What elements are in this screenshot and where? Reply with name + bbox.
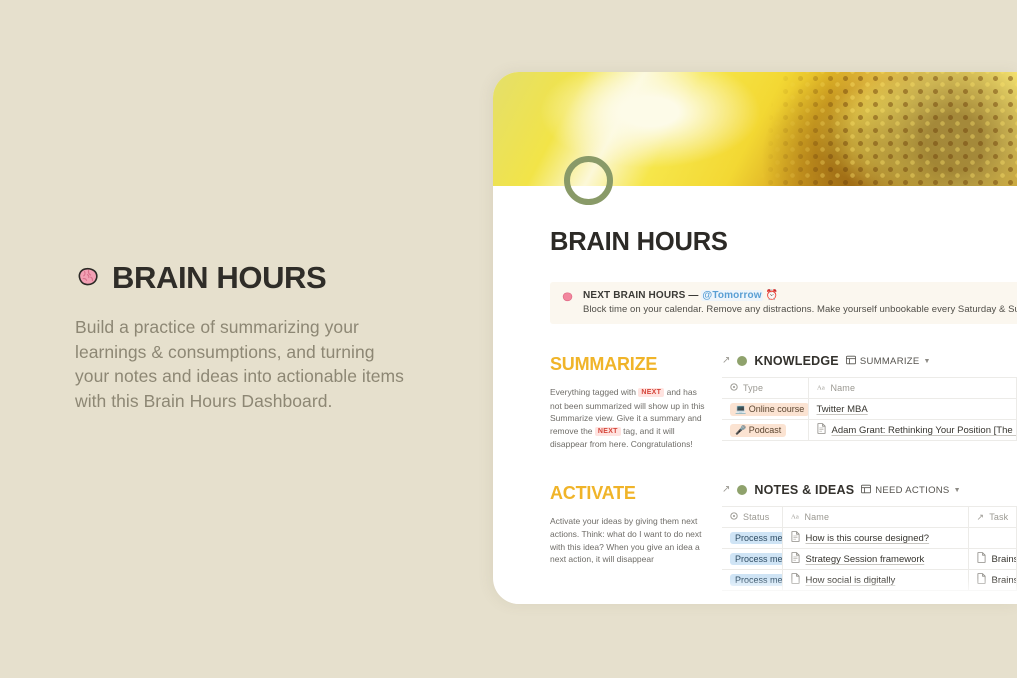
table-row[interactable]: Process me! — [722, 528, 1017, 549]
microphone-icon: 🎤 — [735, 425, 746, 435]
row-title[interactable]: Strategy Session framework — [806, 554, 925, 565]
inline-tag-next: NEXT — [638, 388, 664, 397]
text-icon: Aa — [817, 383, 826, 393]
knowledge-table: Type Aa Name — [722, 377, 1017, 441]
chevron-down-icon[interactable]: ▼ — [954, 487, 961, 494]
callout-block: NEXT BRAIN HOURS — @Tomorrow ⏰ Block tim… — [550, 282, 1017, 324]
alarm-clock-icon: ⏰ — [766, 290, 779, 301]
cell-status[interactable]: Process me! — [722, 570, 782, 591]
desc-part: Everything tagged with — [550, 387, 638, 397]
table-row[interactable]: Process me! — [722, 549, 1017, 570]
section-activate: ACTIVATE Activate your ideas by giving t… — [550, 483, 1017, 591]
status-badge: Process me! — [730, 532, 782, 544]
page-icon — [977, 573, 986, 587]
select-icon — [730, 512, 738, 522]
svg-text:Aa: Aa — [791, 514, 799, 521]
tag-label: Online course — [749, 404, 805, 414]
cell-task[interactable]: Brainstorm — [968, 570, 1017, 591]
column-label: Type — [743, 383, 763, 393]
cell-name[interactable]: Adam Grant: Rethinking Your Position [Th… — [808, 420, 1017, 441]
section-heading-activate: ACTIVATE — [550, 483, 710, 504]
page-body: BRAIN HOURS NEXT BRAIN HOURS — @Tomorrow… — [493, 186, 1017, 591]
section-description: Everything tagged with NEXT and has not … — [550, 386, 710, 451]
page-icon — [791, 573, 800, 587]
green-circle-icon[interactable] — [564, 156, 613, 205]
cell-status[interactable]: Process me! — [722, 549, 782, 570]
callout-text: Block time on your calendar. Remove any … — [583, 304, 1012, 315]
date-mention[interactable]: @Tomorrow — [701, 290, 762, 301]
section-heading-summarize: SUMMARIZE — [550, 354, 710, 375]
brain-icon — [75, 265, 101, 291]
row-title[interactable]: How social is digitally — [806, 575, 896, 586]
green-dot-icon — [737, 356, 747, 366]
database-name[interactable]: KNOWLEDGE — [754, 354, 838, 368]
section-description: Activate your ideas by giving them next … — [550, 515, 710, 565]
task-value[interactable]: Brainstorm — [992, 554, 1017, 565]
relation-icon: ↗ — [977, 513, 985, 522]
select-icon — [730, 383, 738, 393]
database-title-row[interactable]: ↗ NOTES & IDEAS NEED ACTIONS ▼ — [722, 483, 1017, 497]
table-header-row: Type Aa Name — [722, 378, 1017, 399]
database-name[interactable]: NOTES & IDEAS — [754, 483, 854, 497]
type-tag: 🎤 Podcast — [730, 424, 786, 437]
section-description-column: SUMMARIZE Everything tagged with NEXT an… — [550, 354, 722, 459]
promo-block: BRAIN HOURS Build a practice of summariz… — [75, 262, 405, 413]
arrow-up-right-icon[interactable]: ↗ — [722, 485, 730, 495]
cell-name[interactable]: Strategy Session framework — [782, 549, 968, 570]
cell-status[interactable]: Process me! — [722, 528, 782, 549]
table-view-icon — [846, 355, 856, 368]
view-name: SUMMARIZE — [860, 356, 920, 367]
type-tag: 💻 Online course — [730, 403, 808, 416]
notion-page-card: BRAIN HOURS NEXT BRAIN HOURS — @Tomorrow… — [493, 72, 1017, 604]
column-label: Name — [805, 512, 830, 522]
row-title[interactable]: Adam Grant: Rethinking Your Position [Th… — [832, 425, 1017, 436]
column-label: Name — [831, 383, 856, 393]
table-row[interactable]: 🎤 Podcast — [722, 420, 1017, 441]
database-notes-and-ideas: ↗ NOTES & IDEAS NEED ACTIONS ▼ — [722, 483, 1017, 591]
section-description-column: ACTIVATE Activate your ideas by giving t… — [550, 483, 722, 591]
column-header-task[interactable]: ↗ Task — [968, 507, 1017, 528]
task-value[interactable]: Brainstorm — [992, 575, 1017, 586]
database-title-row[interactable]: ↗ KNOWLEDGE SUMMARIZE ▼ — [722, 354, 1017, 368]
tag-label: Podcast — [749, 425, 782, 435]
svg-text:Aa: Aa — [817, 384, 825, 391]
table-view-icon — [861, 484, 871, 497]
green-dot-icon — [737, 485, 747, 495]
view-selector[interactable]: NEED ACTIONS ▼ — [861, 484, 961, 497]
row-title[interactable]: Twitter MBA — [817, 404, 868, 415]
page-icon — [791, 531, 800, 545]
table-row[interactable]: Process me! — [722, 570, 1017, 591]
database-knowledge: ↗ KNOWLEDGE SUMMARIZE ▼ — [722, 354, 1017, 459]
notion-page-title: BRAIN HOURS — [550, 228, 1017, 257]
inline-tag-next: NEXT — [595, 427, 621, 436]
cell-name[interactable]: How is this course designed? — [782, 528, 968, 549]
column-header-name[interactable]: Aa Name — [808, 378, 1017, 399]
column-header-type[interactable]: Type — [722, 378, 808, 399]
promo-heading: BRAIN HOURS — [75, 262, 405, 293]
status-badge: Process me! — [730, 553, 782, 565]
page-title: BRAIN HOURS — [112, 262, 326, 293]
section-summarize: SUMMARIZE Everything tagged with NEXT an… — [550, 354, 1017, 459]
status-badge: Process me! — [730, 574, 782, 586]
page-icon — [977, 552, 986, 566]
cell-name[interactable]: Twitter MBA — [808, 399, 1017, 420]
text-icon: Aa — [791, 512, 800, 522]
chevron-down-icon[interactable]: ▼ — [924, 358, 931, 365]
callout-title: NEXT BRAIN HOURS — @Tomorrow ⏰ — [583, 290, 1012, 301]
callout-label: NEXT BRAIN HOURS — — [583, 290, 698, 301]
cell-type[interactable]: 🎤 Podcast — [722, 420, 808, 441]
view-selector[interactable]: SUMMARIZE ▼ — [846, 355, 931, 368]
callout-body: NEXT BRAIN HOURS — @Tomorrow ⏰ Block tim… — [583, 290, 1012, 315]
cell-task[interactable] — [968, 528, 1017, 549]
table-row[interactable]: 💻 Online course Twitter MBA — [722, 399, 1017, 420]
view-name: NEED ACTIONS — [875, 485, 949, 496]
notes-ideas-table: Status Aa Name — [722, 506, 1017, 591]
column-header-name[interactable]: Aa Name — [782, 507, 968, 528]
cell-task[interactable]: Brainstorm — [968, 549, 1017, 570]
column-label: Status — [743, 512, 769, 522]
column-header-status[interactable]: Status — [722, 507, 782, 528]
row-title[interactable]: How is this course designed? — [806, 533, 930, 544]
brain-icon — [561, 291, 574, 315]
computer-icon: 💻 — [735, 404, 746, 414]
promo-subtitle: Build a practice of summarizing your lea… — [75, 315, 405, 413]
arrow-up-right-icon[interactable]: ↗ — [722, 356, 730, 366]
page-icon — [791, 552, 800, 566]
cell-type[interactable]: 💻 Online course — [722, 399, 808, 420]
table-header-row: Status Aa Name — [722, 507, 1017, 528]
column-label: Task — [989, 512, 1008, 522]
page-icon — [817, 423, 826, 437]
cell-name[interactable]: How social is digitally — [782, 570, 968, 591]
